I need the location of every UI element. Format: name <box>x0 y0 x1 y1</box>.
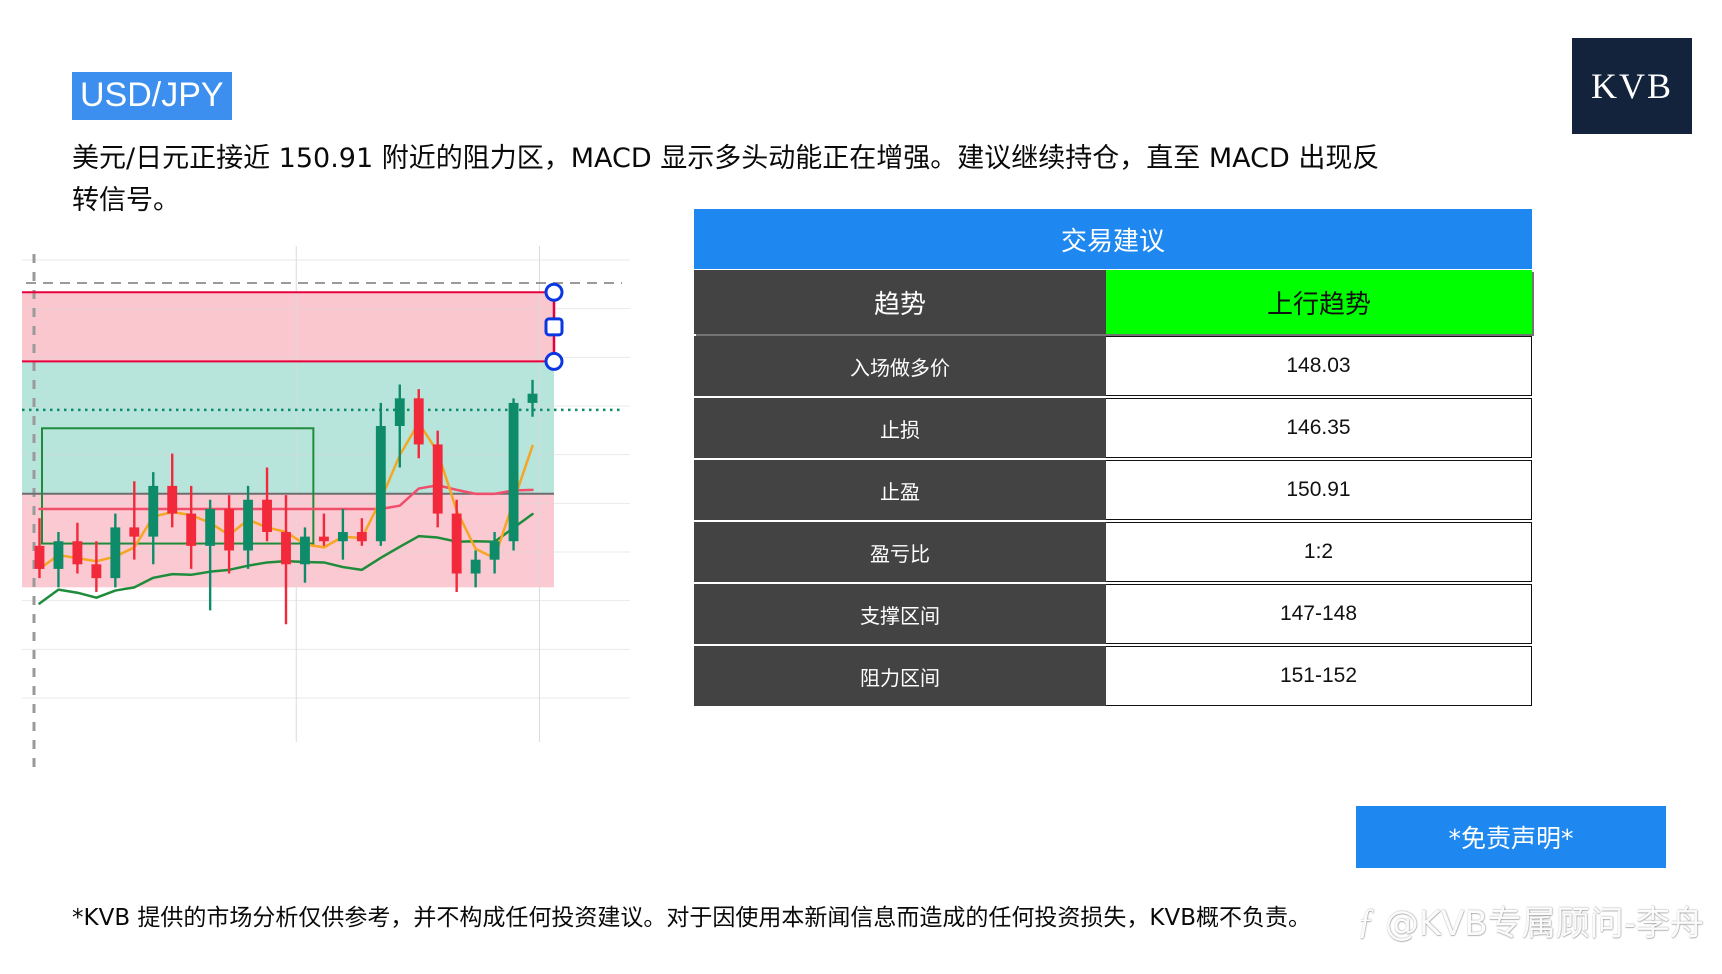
candle-body <box>167 486 177 514</box>
candle-body <box>395 398 405 426</box>
candle-body <box>490 541 500 559</box>
table-body: 趋势上行趋势入场做多价148.03止损146.35止盈150.91盈亏比1:2支… <box>694 270 1532 706</box>
table-row-key: 阻力区间 <box>694 646 1106 706</box>
candlestick <box>509 398 519 550</box>
candle-body <box>224 509 234 550</box>
candle-body <box>414 398 424 444</box>
table-row-key: 止盈 <box>694 460 1106 520</box>
candle-body <box>433 444 443 513</box>
candle-body <box>338 532 348 541</box>
table-row-value: 151-152 <box>1106 646 1532 706</box>
table-row-value: 1:2 <box>1106 522 1532 582</box>
table-row: 阻力区间151-152 <box>694 646 1532 706</box>
chart-zone-resistance-zone <box>22 292 554 361</box>
candle-body <box>300 537 310 565</box>
candle-body <box>129 527 139 536</box>
candle-body <box>528 394 538 403</box>
table-row-key: 趋势 <box>694 270 1106 334</box>
candle-body <box>376 426 386 541</box>
price-chart[interactable] <box>22 246 630 784</box>
watermark: ƒ @KVB专属顾问-李舟 <box>1357 896 1704 945</box>
table-row: 支撑区间147-148 <box>694 584 1532 644</box>
candle-body <box>319 537 329 542</box>
handle-top-circle[interactable] <box>546 284 562 300</box>
table-row: 趋势上行趋势 <box>694 270 1532 334</box>
candle-body <box>54 541 64 569</box>
table-row-key: 止损 <box>694 398 1106 458</box>
table-row-key: 入场做多价 <box>694 336 1106 396</box>
candle-body <box>471 560 481 574</box>
candle-body <box>452 514 462 574</box>
table-row-key: 支撑区间 <box>694 584 1106 644</box>
kvb-logo: KVB <box>1572 38 1692 134</box>
watermark-logo-icon: ƒ <box>1357 900 1375 942</box>
candle-body <box>509 403 519 541</box>
candle-body <box>281 532 291 564</box>
slide-root: USD/JPY 美元/日元正接近 150.91 附近的阻力区，MACD 显示多头… <box>0 0 1722 974</box>
table-title: 交易建议 <box>694 209 1532 269</box>
candlestick-chart-svg[interactable] <box>22 246 630 784</box>
table-row: 止损146.35 <box>694 398 1532 458</box>
trade-recommendation-table: 交易建议 趋势上行趋势入场做多价148.03止损146.35止盈150.91盈亏… <box>694 209 1532 706</box>
handle-bottom-circle[interactable] <box>546 353 562 369</box>
table-row: 止盈150.91 <box>694 460 1532 520</box>
handle-middle-square[interactable] <box>546 319 562 335</box>
candle-body <box>243 500 253 551</box>
table-row-value: 148.03 <box>1106 336 1532 396</box>
candle-body <box>110 527 120 578</box>
kvb-logo-text: KVB <box>1591 65 1673 107</box>
table-row-value: 146.35 <box>1106 398 1532 458</box>
table-row-key: 盈亏比 <box>694 522 1106 582</box>
table-row: 盈亏比1:2 <box>694 522 1532 582</box>
candle-body <box>35 546 45 569</box>
watermark-text: @KVB专属顾问-李舟 <box>1385 896 1704 945</box>
candle-body <box>262 500 272 532</box>
candle-body <box>205 509 215 546</box>
candle-body <box>186 514 196 546</box>
disclaimer-button[interactable]: *免责声明* <box>1356 806 1666 868</box>
table-row: 入场做多价148.03 <box>694 336 1532 396</box>
candlestick <box>433 431 443 528</box>
currency-pair-badge: USD/JPY <box>72 72 232 120</box>
candle-body <box>357 532 367 541</box>
candle-body <box>72 541 82 564</box>
candle-body <box>91 564 101 578</box>
footer-disclaimer-text: *KVB 提供的市场分析仅供参考，并不构成任何投资建议。对于因使用本新闻信息而造… <box>72 898 1311 932</box>
table-row-value: 147-148 <box>1106 584 1532 644</box>
status-badge: 上行趋势 <box>1106 270 1532 334</box>
table-row-value: 150.91 <box>1106 460 1532 520</box>
candle-body <box>148 486 158 537</box>
